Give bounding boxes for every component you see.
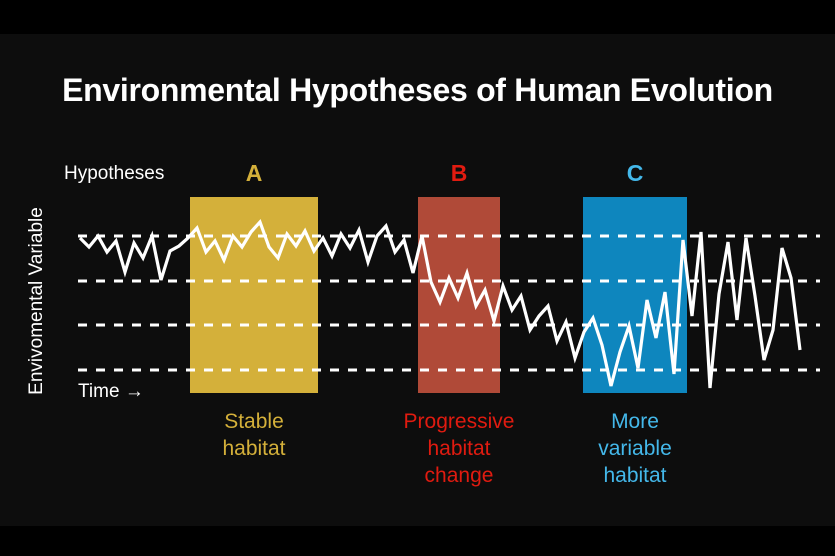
band-caption-c-line1: More	[550, 408, 720, 435]
band-caption-a-line2: habitat	[169, 435, 339, 462]
band-caption-b-line1: Progressive	[374, 408, 544, 435]
band-caption-a-line1: Stable	[169, 408, 339, 435]
band-letter-c: C	[615, 160, 655, 187]
band-caption-c-line2: variable	[550, 435, 720, 462]
x-axis-label-text: Time	[78, 381, 120, 402]
band-letter-b: B	[439, 160, 479, 187]
band-caption-c-line3: habitat	[550, 462, 720, 489]
band-caption-a: Stable habitat	[169, 408, 339, 462]
y-axis-label: Envivomental Variable	[26, 201, 48, 401]
band-caption-b-line2: habitat	[374, 435, 544, 462]
arrow-right-icon: →	[125, 381, 144, 402]
band-caption-c: More variable habitat	[550, 408, 720, 489]
slide-canvas: Environmental Hypotheses of Human Evolut…	[0, 0, 835, 556]
band-letter-a: A	[234, 160, 274, 187]
band-caption-b-line3: change	[374, 462, 544, 489]
band-caption-b: Progressive habitat change	[374, 408, 544, 489]
x-axis-label: Time →	[78, 381, 144, 403]
